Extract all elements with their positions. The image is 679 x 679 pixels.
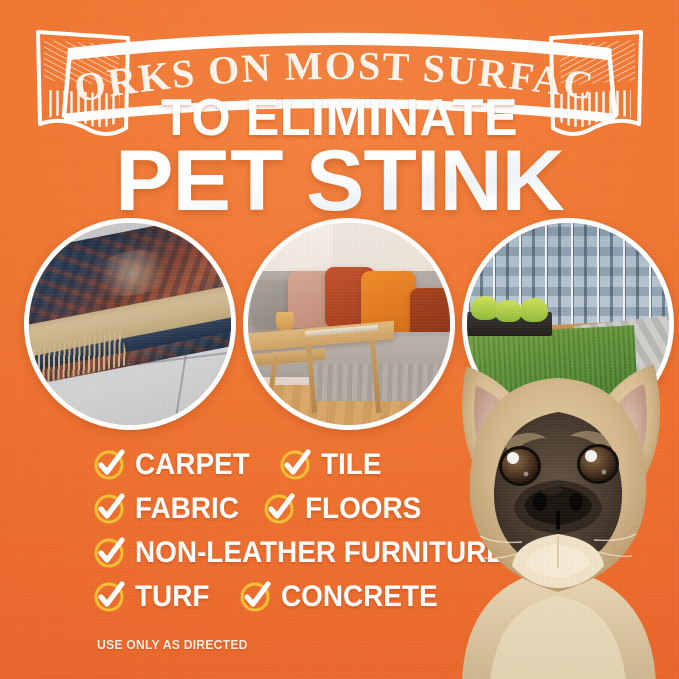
disclaimer-text: USE ONLY AS DIRECTED: [97, 637, 248, 652]
plant-foliage: [520, 298, 548, 322]
table-mug: [276, 312, 294, 330]
french-bulldog-photo: [432, 330, 679, 679]
checklist-label: CARPET: [135, 448, 250, 482]
headline-line-2: PET STINK: [0, 145, 679, 219]
checklist-item-concrete: CONCRETE: [240, 580, 449, 614]
checklist-item-carpet: CARPET: [94, 448, 280, 482]
checklist-label: FABRIC: [135, 492, 239, 526]
checklist-item-turf: TURF: [94, 580, 240, 614]
checklist-label: CONCRETE: [281, 580, 438, 614]
check-circle-icon: [94, 581, 126, 613]
check-circle-icon: [240, 581, 272, 613]
check-circle-icon: [94, 493, 126, 525]
check-circle-icon: [94, 537, 126, 569]
checklist-label: TILE: [321, 448, 381, 482]
checklist-item-tile: TILE: [280, 448, 386, 482]
photo-rug-on-tile: [24, 218, 236, 430]
check-circle-icon: [264, 493, 296, 525]
check-circle-icon: [280, 449, 312, 481]
checklist-label: TURF: [135, 580, 209, 614]
checklist-label: FLOORS: [305, 492, 421, 526]
plant-foliage: [495, 300, 521, 322]
product-infographic: WORKS ON MOST SURFACES TO ELIMINATE PET …: [0, 0, 679, 679]
checklist-item-fabric: FABRIC: [94, 492, 264, 526]
checklist-item-floors: FLOORS: [264, 492, 430, 526]
photo-sofa-pillows: [243, 218, 455, 430]
check-circle-icon: [94, 449, 126, 481]
sofa-skirt: [313, 364, 450, 400]
ribbon-banner-icon: [0, 24, 679, 142]
